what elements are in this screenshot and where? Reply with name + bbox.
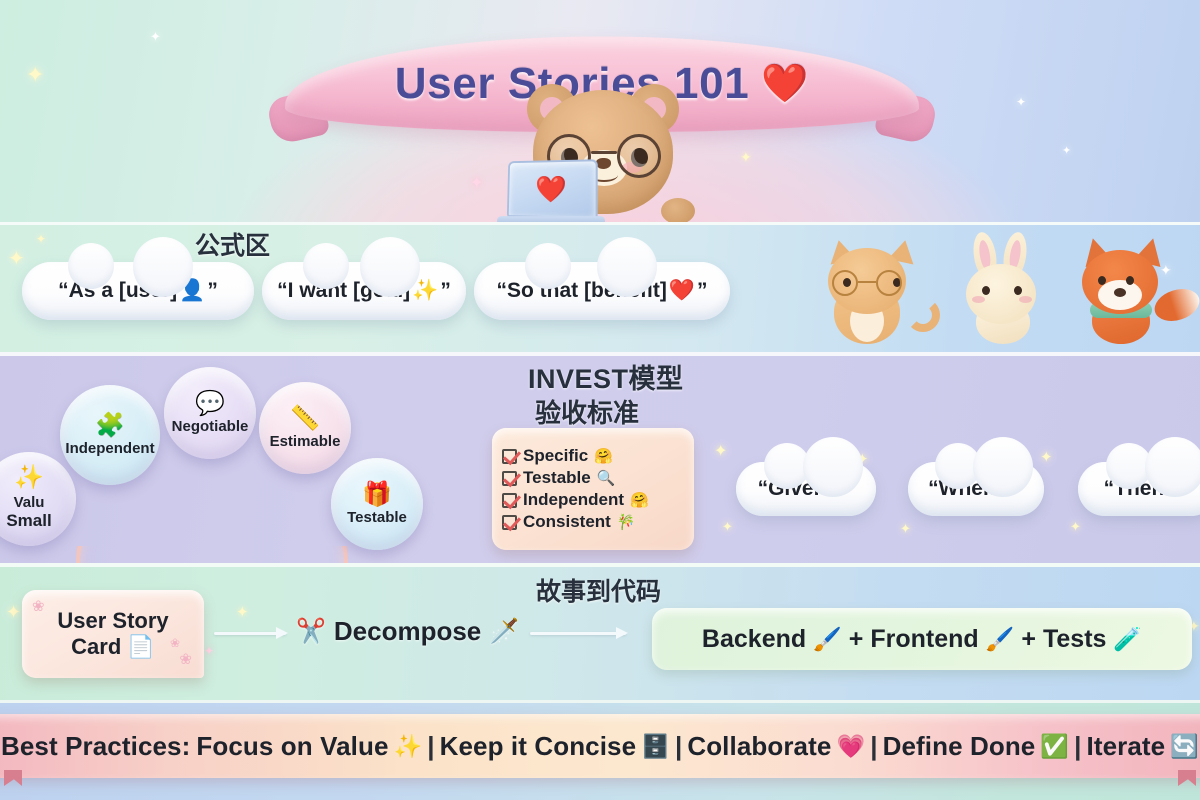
invest-badge-label: Independent	[65, 440, 154, 457]
hug-face-icon: 🤗	[630, 491, 649, 509]
user-story-card-line2: Card	[71, 634, 121, 659]
blade-icon: 🗡️	[489, 617, 519, 646]
glasses-icon	[832, 270, 902, 296]
bunny-eye-left	[982, 286, 990, 295]
best-practices-ribbon: Best Practices: Focus on Value ✨ | Keep …	[0, 714, 1200, 778]
footer-item-label: Collaborate	[687, 731, 831, 762]
formula-cloud-text: “As a [user]	[58, 279, 177, 303]
footer-item-label: Focus on Value	[196, 731, 388, 762]
sparkle-icon: ✦	[150, 30, 161, 43]
footer-separator: |	[1074, 731, 1081, 762]
footer-prefix-label: Best Practices:	[1, 731, 190, 762]
pipeline-arrow-2	[530, 632, 626, 635]
formula-cloud-text: “So that [benefit]	[497, 279, 667, 303]
poster-canvas: ✦ ✦ ✦ ✦ ✦ ✦ ✦ User Stories 101 ❤️	[0, 0, 1200, 800]
gherkin-cloud-text: “Given...”	[758, 477, 855, 501]
file-cabinet-icon: 🗄️	[641, 733, 670, 760]
formula-cloud-as-a: “As a [user] 👤 ”	[22, 262, 254, 320]
heart-icon: 💗	[836, 733, 865, 760]
pipeline-step-decompose: ✂️ Decompose 🗡️	[296, 616, 519, 647]
sparkle-icon: ✦	[36, 233, 46, 245]
checkbox-checked-icon[interactable]	[502, 449, 517, 464]
acceptance-criteria-heading: 验收标准	[535, 393, 639, 430]
sparkle-icon: ✦	[1070, 520, 1081, 533]
test-tube-icon: 🧪	[1113, 626, 1142, 653]
check-mark-icon: ✅	[1040, 733, 1069, 760]
acceptance-criteria-card: Specific 🤗 Testable 🔍 Independent 🤗 Cons…	[492, 428, 694, 550]
footer-item-label: Define Done	[883, 731, 1036, 762]
glasses-bridge	[591, 151, 617, 154]
cat-character	[816, 240, 928, 344]
sparkle-icon: ✦	[26, 64, 44, 86]
invest-badge-estimable[interactable]: 📏 Estimable	[259, 382, 351, 474]
footer-separator: |	[675, 731, 682, 762]
checklist-item[interactable]: Consistent 🎋	[502, 512, 684, 532]
sparkle-icon: ✦	[1040, 450, 1053, 465]
sparkle-icon: ✨	[14, 466, 44, 490]
bunny-eye-right	[1014, 286, 1022, 295]
sparkle-icon: ✦	[722, 520, 733, 533]
invest-badge-testable[interactable]: 🎁 Testable	[331, 458, 423, 550]
cat-lens-left	[832, 270, 858, 296]
puzzle-icon: 🧩	[95, 414, 125, 438]
checklist-item[interactable]: Independent 🤗	[502, 490, 684, 510]
user-story-card-line1: User Story	[57, 608, 168, 633]
bear-paw-right	[661, 198, 695, 224]
paintbrush-icon: 🖌️	[986, 626, 1015, 653]
heart-icon: ❤️	[535, 173, 567, 204]
formula-cloud-close: ”	[440, 279, 451, 303]
bunny-blush-left	[972, 296, 985, 303]
checklist-item-label: Consistent	[523, 512, 611, 532]
footer-item: Focus on Value ✨	[196, 731, 422, 762]
cat-lens-right	[876, 270, 902, 296]
footer-separator: |	[427, 731, 434, 762]
invest-badge-negotiable[interactable]: 💬 Negotiable	[164, 367, 256, 459]
blossom-icon: ❀	[170, 636, 180, 650]
checklist-item[interactable]: Testable 🔍	[502, 468, 684, 488]
footer-item: Define Done ✅	[883, 731, 1070, 762]
invest-badge-label: Testable	[347, 509, 407, 526]
checkbox-checked-icon[interactable]	[502, 493, 517, 508]
invest-badge-label: Negotiable	[172, 418, 249, 435]
output-tests-label: Tests	[1043, 625, 1106, 654]
pipeline-section-heading: 故事到代码	[536, 572, 661, 608]
invest-badge-label-small: Small	[6, 511, 51, 531]
formula-cloud-i-want: “I want [goal] ✨ ”	[262, 262, 466, 320]
footer-separator: |	[870, 731, 877, 762]
hug-face-icon: 🤗	[594, 447, 613, 465]
blossom-icon: ❀	[32, 598, 45, 616]
output-backend-label: Backend	[702, 625, 806, 654]
user-story-card[interactable]: ❀ ❀ ❀ User Story Card 📄	[22, 590, 204, 678]
cat-tail	[906, 298, 940, 332]
heart-icon: ❤️	[761, 62, 809, 106]
gherkin-cloud-text: “When...”	[928, 477, 1024, 501]
sparkle-icon: ✦	[6, 603, 21, 621]
output-plus-2: +	[1021, 625, 1036, 654]
checklist-item-label: Independent	[523, 490, 624, 510]
checklist-item-label: Testable	[523, 468, 591, 488]
gherkin-cloud-text: “Then...”	[1104, 477, 1193, 501]
document-icon: 📄	[127, 634, 154, 659]
ruler-icon: 📏	[290, 407, 320, 431]
repeat-icon: 🔄	[1170, 733, 1199, 760]
scissors-icon: ✂️	[296, 617, 326, 646]
gherkin-cloud-given: “Given...”	[736, 462, 876, 516]
pipeline-step-label: Decompose	[334, 616, 481, 647]
checkbox-checked-icon[interactable]	[502, 471, 517, 486]
bear-eye-right	[631, 148, 648, 167]
invest-badge-label: Valu	[14, 494, 45, 511]
animal-characters	[806, 232, 1186, 344]
user-icon: 👤	[179, 279, 205, 303]
formula-cloud-close: ”	[697, 279, 708, 303]
invest-badge-independent[interactable]: 🧩 Independent	[60, 385, 160, 485]
sparkle-icon: ✦	[236, 605, 249, 620]
footer-item-label: Iterate	[1087, 731, 1166, 762]
gherkin-cloud-then: “Then...”	[1078, 462, 1200, 516]
sparkle-icon: ✦	[900, 522, 911, 535]
sparkles-icon: ✨	[394, 733, 423, 760]
fox-character	[1068, 238, 1186, 344]
gherkin-cloud-when: “When...”	[908, 462, 1044, 516]
checklist-item-label: Specific	[523, 446, 588, 466]
sparkle-icon: ✨	[412, 279, 438, 303]
footer-item: Keep it Concise 🗄️	[440, 731, 670, 762]
footer-item: Iterate 🔄	[1087, 731, 1200, 762]
bamboo-icon: 🎋	[617, 513, 636, 531]
invest-badge-label: Estimable	[270, 433, 341, 450]
formula-cloud-text: “I want [goal]	[277, 279, 410, 303]
formula-cloud-so-that: “So that [benefit] ❤️ ”	[474, 262, 730, 320]
pipeline-arrow-1	[214, 632, 286, 635]
bunny-blush-right	[1019, 296, 1032, 303]
pipeline-output-pill: Backend 🖌️ + Frontend 🖌️ + Tests 🧪	[652, 608, 1192, 670]
bear-lens-right	[617, 134, 661, 178]
sparkle-icon: ✦	[204, 645, 214, 657]
output-frontend-label: Frontend	[870, 625, 978, 654]
sparkle-icon: ✦	[714, 444, 727, 460]
user-story-card-label: User Story Card 📄	[57, 608, 168, 660]
footer-item: Collaborate 💗	[687, 731, 865, 762]
sparkle-icon: ✦	[8, 249, 25, 269]
sparkle-icon: ✦	[740, 150, 752, 164]
footer-item-label: Keep it Concise	[440, 731, 637, 762]
heart-icon: ❤️	[669, 279, 695, 303]
fox-eye-right	[1126, 276, 1134, 285]
footer-prefix: Best Practices:	[1, 731, 190, 762]
magnifier-icon: 🔍	[597, 469, 616, 487]
cat-glasses-bridge	[858, 281, 876, 283]
sparkle-icon: ✦	[1016, 96, 1026, 108]
gift-icon: 🎁	[362, 483, 392, 507]
checklist-item[interactable]: Specific 🤗	[502, 446, 684, 466]
sparkle-icon: ✦	[470, 176, 483, 192]
formula-section-heading: 公式区	[195, 226, 270, 262]
formula-cloud-close: ”	[207, 279, 218, 303]
speech-bubble-icon: 💬	[195, 392, 225, 416]
invest-section-heading: INVEST模型	[528, 357, 684, 396]
checkbox-checked-icon[interactable]	[502, 515, 517, 530]
fox-nose	[1114, 288, 1126, 297]
blossom-icon: ❀	[179, 651, 192, 669]
bunny-character	[950, 232, 1052, 344]
laptop-screen: ❤️	[507, 159, 598, 219]
paintbrush-icon: 🖌️	[813, 626, 842, 653]
sparkle-icon: ✦	[1062, 146, 1071, 157]
output-plus-1: +	[849, 625, 864, 654]
bunny-head	[966, 264, 1036, 324]
fox-eye-left	[1098, 276, 1106, 285]
